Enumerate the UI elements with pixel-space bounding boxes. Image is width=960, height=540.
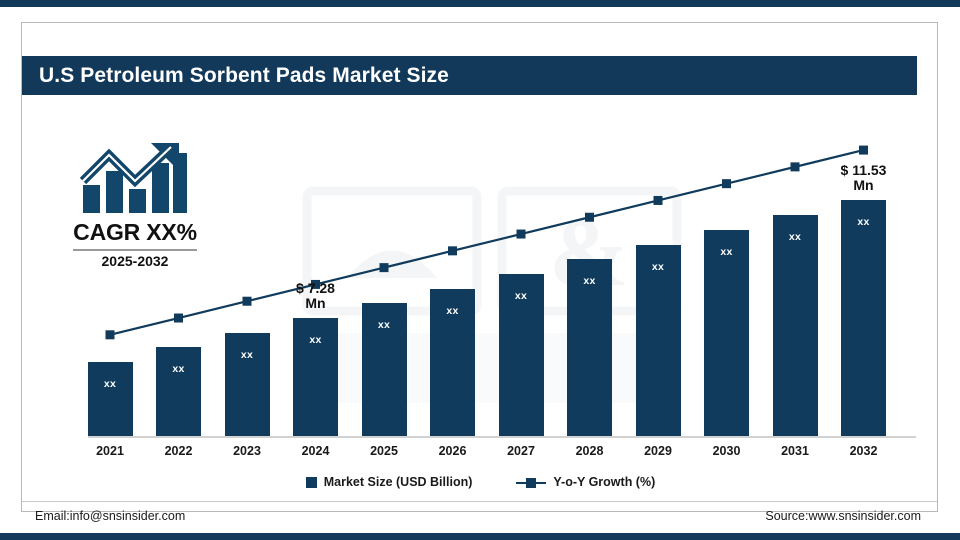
growth-marker-2029 bbox=[654, 196, 663, 205]
x-axis-label-2023: 2023 bbox=[217, 444, 277, 458]
bar-annotation-2032: $ 11.53Mn bbox=[804, 163, 924, 193]
growth-marker-2030 bbox=[722, 179, 731, 188]
growth-marker-2027 bbox=[517, 230, 526, 239]
infographic-root: U.S Petroleum Sorbent Pads Market Size & bbox=[0, 0, 960, 540]
chart-plot-area: xxxxxxxxxxxxxxxxxxxxxxxx $ 7.28Mn$ 11.53… bbox=[80, 118, 925, 438]
legend-line-square bbox=[526, 478, 536, 488]
legend-line-marker-icon bbox=[516, 477, 546, 488]
growth-marker-2032 bbox=[859, 146, 868, 155]
top-accent-bar bbox=[0, 0, 960, 7]
annotation-line-1: $ 11.53 bbox=[804, 163, 924, 178]
page-title: U.S Petroleum Sorbent Pads Market Size bbox=[39, 64, 449, 88]
title-banner: U.S Petroleum Sorbent Pads Market Size bbox=[22, 56, 917, 95]
growth-marker-2022 bbox=[174, 314, 183, 323]
x-axis-label-2022: 2022 bbox=[149, 444, 209, 458]
x-axis-label-2028: 2028 bbox=[560, 444, 620, 458]
x-axis-label-2032: 2032 bbox=[834, 444, 894, 458]
chart-card: U.S Petroleum Sorbent Pads Market Size & bbox=[21, 22, 938, 512]
footer-email[interactable]: Email:info@snsinsider.com bbox=[35, 509, 185, 523]
legend-square-swatch-icon bbox=[306, 477, 317, 488]
annotation-line-2: Mn bbox=[804, 178, 924, 193]
growth-marker-2028 bbox=[585, 213, 594, 222]
growth-marker-2025 bbox=[380, 263, 389, 272]
annotation-line-2: Mn bbox=[256, 296, 376, 311]
x-axis-label-2026: 2026 bbox=[423, 444, 483, 458]
x-axis-label-2021: 2021 bbox=[80, 444, 140, 458]
growth-line-layer bbox=[80, 118, 925, 438]
legend-label: Y-o-Y Growth (%) bbox=[553, 475, 655, 489]
x-axis-labels: 2021202220232024202520262027202820292030… bbox=[80, 444, 925, 464]
footer-source[interactable]: Source:www.snsinsider.com bbox=[765, 509, 921, 523]
footer-divider bbox=[22, 501, 937, 502]
annotation-line-1: $ 7.28 bbox=[256, 281, 376, 296]
bottom-accent-bar bbox=[0, 533, 960, 540]
legend-item-1[interactable]: Market Size (USD Billion) bbox=[306, 475, 473, 489]
growth-marker-2023 bbox=[243, 297, 252, 306]
growth-marker-2026 bbox=[448, 246, 457, 255]
growth-line bbox=[110, 150, 864, 335]
x-axis-label-2029: 2029 bbox=[628, 444, 688, 458]
x-axis-label-2030: 2030 bbox=[697, 444, 757, 458]
growth-marker-2031 bbox=[791, 162, 800, 171]
x-axis-label-2025: 2025 bbox=[354, 444, 414, 458]
x-axis-label-2031: 2031 bbox=[765, 444, 825, 458]
legend-item-2[interactable]: Y-o-Y Growth (%) bbox=[516, 475, 655, 489]
x-axis-label-2024: 2024 bbox=[286, 444, 346, 458]
x-axis-label-2027: 2027 bbox=[491, 444, 551, 458]
legend-label: Market Size (USD Billion) bbox=[324, 475, 473, 489]
bar-annotation-2024: $ 7.28Mn bbox=[256, 281, 376, 311]
growth-marker-2021 bbox=[106, 330, 115, 339]
chart-legend: Market Size (USD Billion)Y-o-Y Growth (%… bbox=[22, 475, 939, 489]
